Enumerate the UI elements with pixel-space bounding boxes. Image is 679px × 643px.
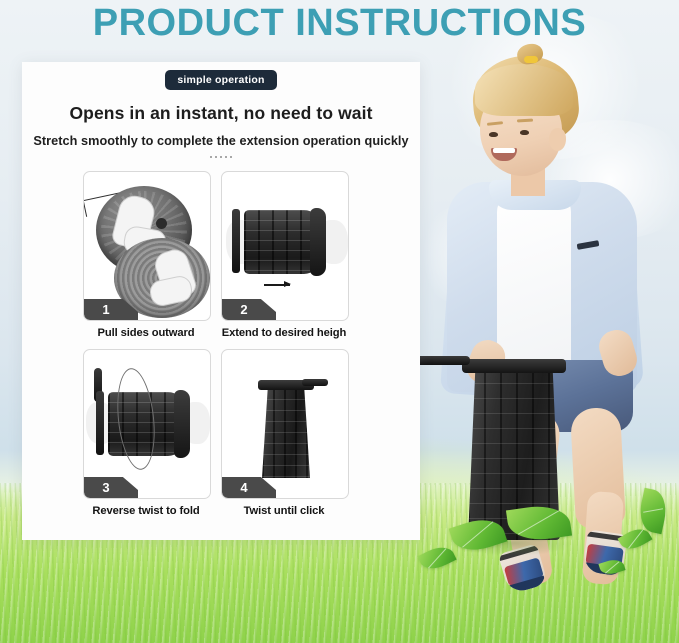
step-panel-1: 1 <box>83 171 211 321</box>
stool-endplate <box>96 391 104 455</box>
stool-endplate <box>232 209 240 273</box>
badge-container: simple operation <box>22 62 420 90</box>
step-number-4: 4 <box>222 477 276 498</box>
eye <box>489 132 498 137</box>
step-caption-3: Reverse twist to fold <box>83 505 209 517</box>
steps-grid: 1 Pull sides outward 2 <box>83 171 359 517</box>
disc-knob <box>156 218 167 229</box>
step-caption-1: Pull sides outward <box>83 327 209 339</box>
instruction-card: simple operation Opens in an instant, no… <box>22 62 420 540</box>
step-panel-3: 3 <box>83 349 211 499</box>
step-number-2: 2 <box>222 299 276 320</box>
teeth <box>493 148 515 153</box>
white-tee <box>497 190 571 380</box>
step-caption-2: Extend to desired heigh <box>221 327 347 339</box>
step-number-3: 3 <box>84 477 138 498</box>
stool-horizontal <box>244 210 326 274</box>
eye <box>520 130 529 135</box>
stool-handle <box>302 379 328 386</box>
dot-divider <box>22 152 420 158</box>
hair-front <box>475 64 573 116</box>
step-panel-4: 4 <box>221 349 349 499</box>
step-panel-2: 2 <box>221 171 349 321</box>
step-caption-4: Twist until click <box>221 505 347 517</box>
stool-upright <box>258 374 314 478</box>
step-cell-3: 3 Reverse twist to fold <box>83 349 209 517</box>
step-cell-2: 2 Extend to desired heigh <box>221 171 347 339</box>
simple-operation-badge: simple operation <box>165 70 276 90</box>
infographic-canvas: simple operation Opens in an instant, no… <box>0 0 679 643</box>
card-subline: Stretch smoothly to complete the extensi… <box>22 134 420 148</box>
hair-band <box>524 56 538 63</box>
step-cell-1: 1 Pull sides outward <box>83 171 209 339</box>
page-title: PRODUCT INSTRUCTIONS <box>0 2 679 45</box>
extend-arrow <box>264 284 290 286</box>
card-headline: Opens in an instant, no need to wait <box>22 103 420 124</box>
step-cell-4: 4 Twist until click <box>221 349 347 517</box>
ear <box>549 128 566 151</box>
